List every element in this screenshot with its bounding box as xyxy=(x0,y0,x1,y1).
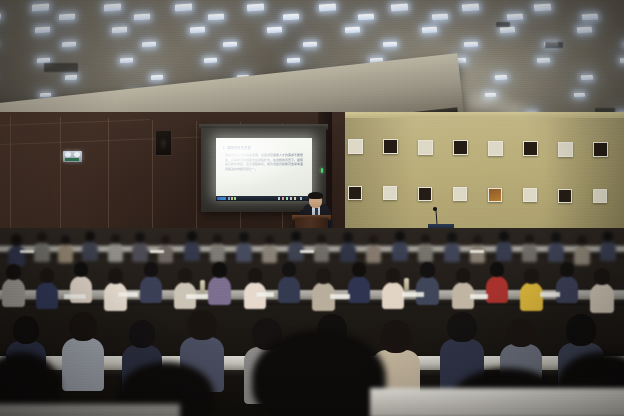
audience-person-torso xyxy=(236,242,252,262)
slide-title: 1. 课题的研究背景 xyxy=(223,145,251,150)
audience-person xyxy=(288,231,304,261)
audience-person-head xyxy=(61,235,71,245)
wall-picture-frame xyxy=(418,140,433,155)
desk-paper xyxy=(470,250,484,253)
audience-person-head xyxy=(420,262,435,278)
wall-picture-frame xyxy=(418,187,432,201)
wall-picture-frame xyxy=(558,189,572,203)
audience-person-head xyxy=(129,320,155,348)
audience-person-head xyxy=(187,231,198,242)
audience-person xyxy=(548,232,564,262)
desk-paper xyxy=(20,250,34,253)
desk-paper xyxy=(300,250,314,253)
wall-picture-frame xyxy=(348,186,362,200)
audience-person-torso xyxy=(496,241,512,261)
audience-person-head xyxy=(265,235,275,245)
ceiling-panel-light xyxy=(463,41,478,47)
audience-person xyxy=(418,234,433,263)
audience-person-head xyxy=(135,232,146,243)
audience-person xyxy=(600,231,616,261)
start-button-icon[interactable] xyxy=(217,197,226,200)
wall-picture-frame xyxy=(488,141,503,156)
ceiling-panel-light xyxy=(112,26,127,33)
audience-person-head xyxy=(248,268,263,283)
audience-person-head xyxy=(282,262,297,277)
audience-person-torso xyxy=(132,242,148,262)
audience-person-head xyxy=(178,268,193,283)
desk-paper xyxy=(118,292,138,297)
ceiling-panel-light xyxy=(581,75,594,80)
ceiling-panel-light xyxy=(103,3,120,11)
audience-person xyxy=(444,232,460,262)
audience-person xyxy=(108,234,123,263)
ceiling-panel-light xyxy=(432,13,449,20)
audience-person-head xyxy=(603,231,614,242)
audience-person-torso xyxy=(548,242,564,262)
audience-person-head xyxy=(507,318,535,347)
wall-picture-frame xyxy=(593,142,608,157)
audience-person xyxy=(236,232,252,262)
audience-person-torso xyxy=(210,243,225,262)
audience-person xyxy=(34,232,50,262)
ceiling-panel-light xyxy=(0,13,1,20)
audience-person xyxy=(574,235,590,265)
lecture-hall-photo: 1. 课题的研究背景 随着我国经济的快速发展，社会对高素质人才的需求不断增加，高… xyxy=(0,0,624,416)
audience-person xyxy=(312,268,335,312)
audience-person-head xyxy=(13,316,39,344)
audience-person-torso xyxy=(348,276,370,304)
ceiling-panel-light xyxy=(422,26,438,33)
audience-person-head xyxy=(524,268,539,284)
audience-person xyxy=(382,268,404,310)
audience-person xyxy=(452,268,474,310)
wall-picture-frame xyxy=(488,188,502,202)
desk-paper xyxy=(470,294,488,299)
audience-person xyxy=(82,231,98,261)
audience-person-torso xyxy=(366,244,381,263)
audience-person-head xyxy=(291,231,302,242)
audience-person-head xyxy=(85,231,96,242)
audience-person-torso xyxy=(158,244,173,263)
ceiling-panel-light xyxy=(581,13,598,20)
audience-person-head xyxy=(111,234,121,244)
wall-picture-frame xyxy=(453,140,468,155)
audience-person-head xyxy=(386,268,401,283)
audience-person xyxy=(392,231,408,261)
wall-picture-frame xyxy=(348,139,363,154)
audience-person-torso xyxy=(392,241,408,261)
projected-slide: 1. 课题的研究背景 随着我国经济的快速发展，社会对高素质人才的需求不断增加，高… xyxy=(216,138,312,196)
ceiling-panel-light xyxy=(344,26,359,33)
audience-person xyxy=(140,262,162,304)
audience-person-head xyxy=(187,310,216,340)
speaker-cone-icon xyxy=(159,136,168,150)
audience-person-head xyxy=(40,268,55,283)
audience-person xyxy=(416,262,439,306)
audience-person xyxy=(520,268,543,312)
audience-person-head xyxy=(161,235,171,245)
audience-person-torso xyxy=(208,276,231,305)
audience-person xyxy=(244,268,266,310)
audience-person-torso xyxy=(34,242,50,262)
ceiling-panel-light xyxy=(134,13,150,20)
ceiling-panel-light xyxy=(151,75,163,80)
audience-person-head xyxy=(594,268,610,285)
desk-paper xyxy=(402,292,424,297)
audience-person xyxy=(36,268,58,310)
ceiling-air-vent xyxy=(496,22,510,27)
ceiling-panel-light xyxy=(357,13,373,20)
audience-person-torso xyxy=(62,338,104,391)
audience-person-head xyxy=(108,268,123,284)
ceiling-air-vent xyxy=(545,42,563,48)
ceiling-air-vent xyxy=(44,63,78,72)
ceiling-panel-light xyxy=(462,3,480,11)
audience-person-head xyxy=(239,232,250,243)
desk-paper xyxy=(64,294,86,299)
audience-person-head xyxy=(69,312,97,341)
audience-person xyxy=(132,232,148,262)
audience-person-torso xyxy=(70,276,92,304)
foreground-desk xyxy=(370,388,624,416)
emergency-exit-light-icon xyxy=(63,151,82,162)
wall-picture-frame xyxy=(453,187,467,201)
audience-person xyxy=(590,268,614,314)
audience-person-head xyxy=(525,234,535,244)
slide-body-text: 随着我国经济的快速发展，社会对高素质人才的需求不断增加，高等教育的规模也在持续扩… xyxy=(225,153,303,171)
audience-person-head xyxy=(37,232,48,243)
ceiling-panel-light xyxy=(189,26,204,33)
foreground-desk-left xyxy=(0,404,180,416)
audience-person-torso xyxy=(36,282,58,310)
audience-person xyxy=(348,262,370,304)
ceiling-panel-light xyxy=(204,58,217,64)
ceiling-panel-light xyxy=(120,58,133,64)
audience-person-head xyxy=(11,234,22,246)
audience-person xyxy=(62,312,104,392)
ceiling-panel-light xyxy=(32,3,49,11)
audience-person xyxy=(210,234,225,263)
wall-speaker-icon xyxy=(155,130,172,156)
audience-person-torso xyxy=(82,241,98,261)
audience-person xyxy=(496,231,512,261)
audience-person-torso xyxy=(470,244,485,263)
audience-person-head xyxy=(74,262,89,277)
audience-person xyxy=(58,235,73,264)
audience-person-head xyxy=(212,262,227,278)
audience-person-torso xyxy=(278,276,300,304)
audience-person-head xyxy=(447,312,476,342)
audience-person-head xyxy=(317,234,327,244)
audience-person xyxy=(104,268,127,312)
audience-person xyxy=(556,262,578,304)
audience-person xyxy=(486,262,508,304)
wall-picture-frame xyxy=(523,141,538,156)
audience-person-head xyxy=(490,262,505,277)
ceiling-panel-light xyxy=(208,13,224,20)
audience-person-head xyxy=(447,232,458,243)
audience-person-head xyxy=(213,234,223,244)
presenter-hair xyxy=(308,192,323,199)
audience-person xyxy=(208,262,231,306)
desk-paper xyxy=(150,250,164,253)
audience-person-torso xyxy=(444,242,460,262)
audience-person-head xyxy=(551,232,562,243)
audience-person xyxy=(522,234,537,263)
ceiling-panel-light xyxy=(283,13,299,20)
ceiling-panel-light xyxy=(247,3,264,11)
ceiling-panel-light xyxy=(223,41,237,47)
audience-person-head xyxy=(499,231,510,242)
audience-person-torso xyxy=(382,282,404,310)
audience-person-head xyxy=(560,262,575,277)
audience-person-torso xyxy=(314,243,329,262)
wall-picture-frame xyxy=(593,189,607,203)
ceiling-panel-light xyxy=(175,3,192,11)
audience-person xyxy=(340,232,356,262)
ceiling-panel-light xyxy=(390,3,408,11)
audience-person-torso xyxy=(556,276,578,304)
wall-picture-frame xyxy=(383,139,398,154)
audience-person xyxy=(262,235,277,264)
audience-person-head xyxy=(6,264,21,280)
wall-picture-frame xyxy=(558,142,573,157)
ceiling-panel-light xyxy=(62,41,76,47)
audience-person-head xyxy=(369,235,379,245)
ceiling-panel-light xyxy=(495,75,508,80)
wall-picture-frame xyxy=(383,186,397,200)
ceiling-panel-light xyxy=(534,4,552,11)
audience-person-torso xyxy=(418,243,433,262)
audience-person-torso xyxy=(600,241,616,261)
desk-bottle xyxy=(404,278,409,291)
audience-person-head xyxy=(421,234,431,244)
desk-paper xyxy=(186,294,208,299)
ceiling-panel-light xyxy=(59,13,75,20)
ceiling-panel-light xyxy=(507,13,524,20)
audience-person-head xyxy=(577,235,588,246)
audience-person-torso xyxy=(590,283,614,313)
ceiling-panel-light xyxy=(499,26,515,33)
ceiling-panel-light xyxy=(37,58,51,64)
audience-person-torso xyxy=(108,243,123,262)
desk-paper xyxy=(330,294,350,299)
wall-picture-frame xyxy=(523,188,537,202)
audience-person xyxy=(2,264,25,308)
ceiling-panel-light xyxy=(303,41,317,47)
audience-person-torso xyxy=(8,245,25,266)
audience-person-head xyxy=(144,262,159,277)
ceiling-panel-light xyxy=(620,58,624,64)
ceiling-panel-light xyxy=(319,3,336,11)
ceiling-panel-light xyxy=(536,58,550,64)
audience-person-head xyxy=(316,268,331,284)
audience-person xyxy=(314,234,329,263)
microphone-head-icon xyxy=(433,207,437,211)
ceiling-panel-light xyxy=(64,75,77,80)
audience-person-head xyxy=(380,320,412,353)
audience-person-torso xyxy=(2,278,25,307)
audience-person xyxy=(278,262,300,304)
ceiling-panel-light xyxy=(267,26,282,33)
foreground-head xyxy=(252,330,386,416)
audience-person-head xyxy=(395,231,406,242)
audience-person-torso xyxy=(140,276,162,304)
ceiling-panel-light xyxy=(142,41,156,47)
projection-screen: 1. 课题的研究背景 随着我国经济的快速发展，社会对高素质人才的需求不断增加，高… xyxy=(201,128,326,212)
audience-person-torso xyxy=(486,276,508,304)
windows-taskbar[interactable] xyxy=(216,196,312,201)
audience-person-torso xyxy=(262,244,277,263)
screen-power-led-icon xyxy=(321,168,324,173)
audience-person-head xyxy=(566,314,596,346)
audience-person xyxy=(174,268,196,310)
audience-person-torso xyxy=(416,276,439,305)
audience-person-torso xyxy=(340,242,356,262)
desk-bottle xyxy=(200,280,205,293)
ceiling-panel-light xyxy=(287,58,300,64)
ceiling-panel-light xyxy=(34,26,49,33)
ceiling-panel-light xyxy=(383,41,398,47)
audience-person xyxy=(366,235,381,264)
audience-person-torso xyxy=(58,244,73,263)
audience-person-head xyxy=(473,235,483,245)
desk-paper xyxy=(540,292,560,297)
audience-person xyxy=(184,231,200,261)
audience-person-torso xyxy=(184,241,200,261)
desk-paper xyxy=(256,292,274,297)
ceiling-panel-light xyxy=(577,26,593,33)
audience-person-head xyxy=(456,268,471,283)
audience-person-torso xyxy=(522,243,537,262)
audience-person-head xyxy=(343,232,354,243)
audience-person-head xyxy=(352,262,367,277)
